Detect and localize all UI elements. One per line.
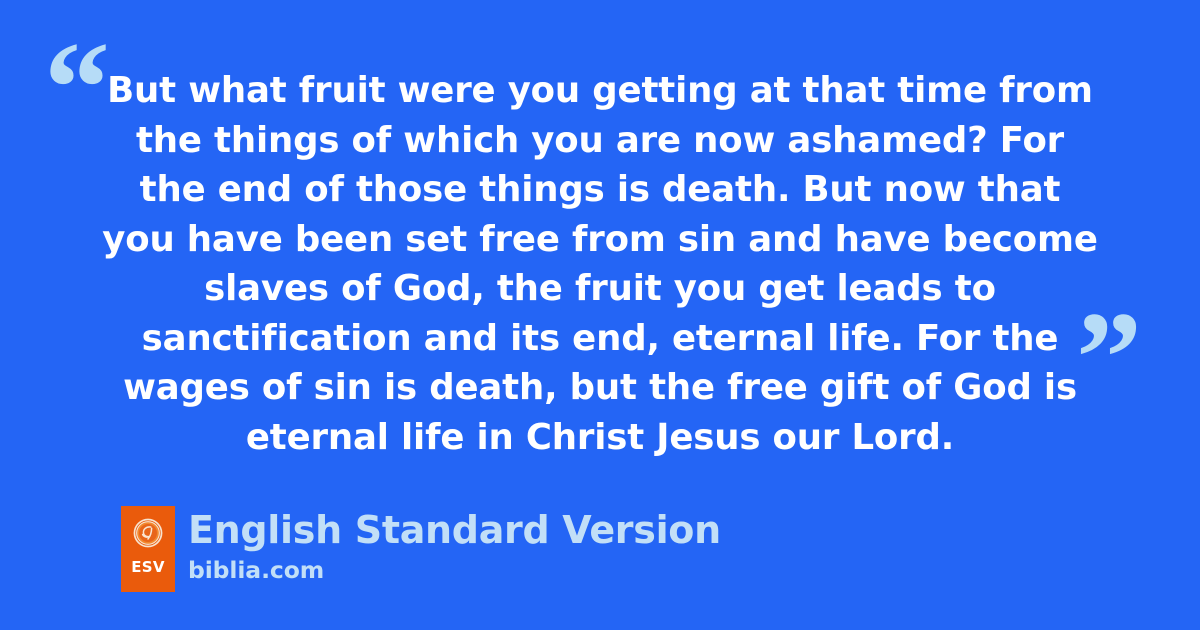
attribution-text-block: English Standard Version biblia.com <box>188 506 721 585</box>
esv-abbreviation-label: ESV <box>121 558 175 576</box>
esv-logo: ESV <box>121 506 175 592</box>
bible-version-name: English Standard Version <box>188 507 721 553</box>
attribution: ESV English Standard Version biblia.com <box>121 506 721 592</box>
closing-quote-icon: ” <box>1076 292 1140 424</box>
bible-verse-card: “ But what fruit were you getting at tha… <box>0 0 1200 630</box>
site-name-label: biblia.com <box>188 555 721 585</box>
esv-seal-icon <box>133 518 163 548</box>
verse-text: But what fruit were you getting at that … <box>98 66 1102 462</box>
